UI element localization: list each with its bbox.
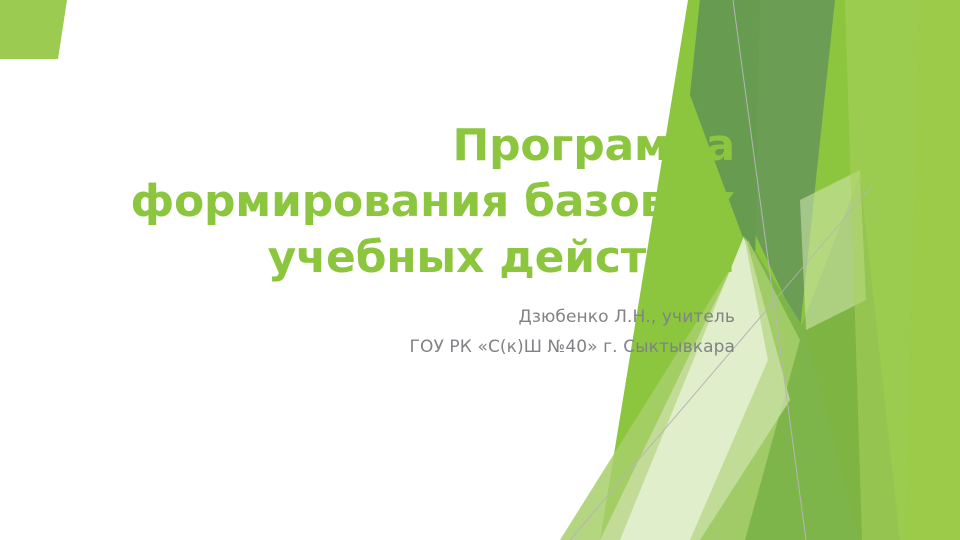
shape-pale-tint-upper <box>800 170 866 330</box>
subtitle-organization: ГОУ РК «С(к)Ш №40» г. Сыктывкара <box>90 332 735 362</box>
page-title: Программа формирования базовых учебных д… <box>90 118 735 286</box>
slide-text-block: Программа формирования базовых учебных д… <box>90 118 735 362</box>
subtitle-author: Дзюбенко Л.Н., учитель <box>90 302 735 332</box>
shape-light-right-edge <box>905 0 960 540</box>
subtitle-block: Дзюбенко Л.Н., учитель ГОУ РК «С(к)Ш №40… <box>90 302 735 363</box>
hairline-diagonal-upper <box>775 186 872 300</box>
shape-corner-parallelogram <box>0 0 67 59</box>
shape-pale-tint-band <box>845 0 920 540</box>
title-slide: Программа формирования базовых учебных д… <box>0 0 960 540</box>
shape-bright-right <box>700 0 960 540</box>
hairline-diagonal-top <box>733 0 806 540</box>
